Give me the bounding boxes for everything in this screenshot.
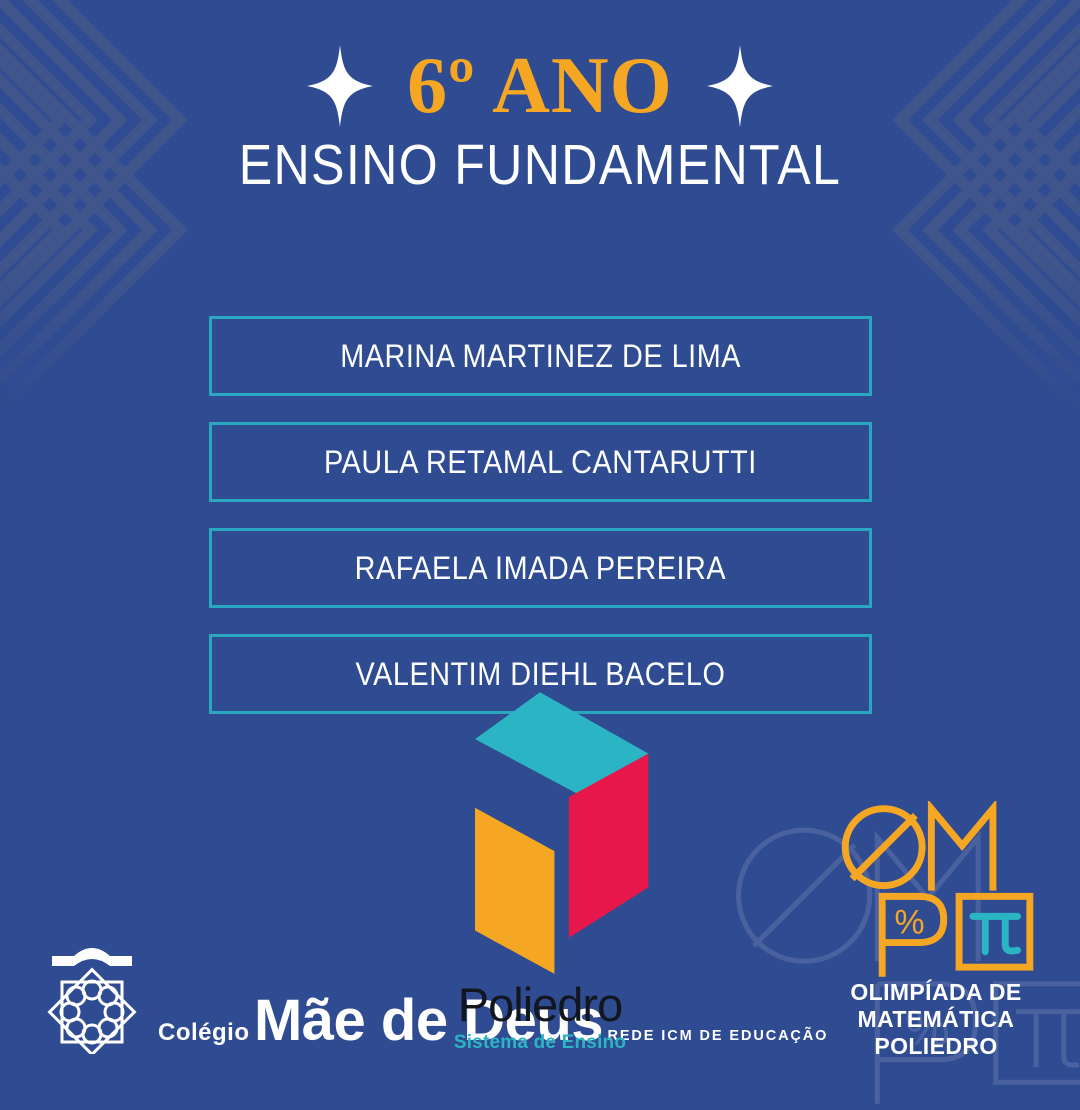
list-item: MARINA MARTINEZ DE LIMA	[209, 316, 872, 396]
student-name: PAULA RETAMAL CANTARUTTI	[324, 444, 757, 481]
winner-name-list: MARINA MARTINEZ DE LIMA PAULA RETAMAL CA…	[209, 316, 872, 714]
poliedro-wordmark: Poliedro	[410, 981, 670, 1028]
svg-text:%: %	[894, 903, 924, 941]
omp-title-line-3: POLIEDRO	[836, 1033, 1036, 1060]
student-name: RAFAELA IMADA PEREIRA	[355, 550, 726, 587]
logo-olimpiada-matematica-poliedro: % OLIMPÍADA DE MATEMÁTICA POLIEDRO	[836, 801, 1036, 1060]
sparkle-star-icon-right	[707, 45, 773, 127]
omp-title-line-2: MATEMÁTICA	[836, 1006, 1036, 1033]
footer-logo-bar: %	[0, 850, 1080, 1080]
list-item: PAULA RETAMAL CANTARUTTI	[209, 422, 872, 502]
header: 6º ANO ENSINO FUNDAMENTAL	[0, 38, 1080, 198]
title-row: 6º ANO	[0, 38, 1080, 134]
isometric-cube-icon	[410, 685, 670, 981]
page-title-grade: 6º ANO	[407, 38, 673, 134]
logo-poliedro: Poliedro Sistema de Ensino	[410, 685, 670, 1054]
student-name: MARINA MARTINEZ DE LIMA	[340, 338, 741, 375]
omp-title-line-1: OLIMPÍADA DE	[836, 979, 1036, 1006]
mdd-prefix: Colégio	[158, 1019, 250, 1046]
star-rosette-emblem-icon	[40, 942, 144, 1054]
sparkle-star-icon-left	[307, 45, 373, 127]
omp-monogram-icon: %	[836, 801, 1036, 979]
poliedro-tagline: Sistema de Ensino	[410, 1032, 670, 1054]
list-item: RAFAELA IMADA PEREIRA	[209, 528, 872, 608]
page-subtitle-level: ENSINO FUNDAMENTAL	[65, 132, 1015, 198]
